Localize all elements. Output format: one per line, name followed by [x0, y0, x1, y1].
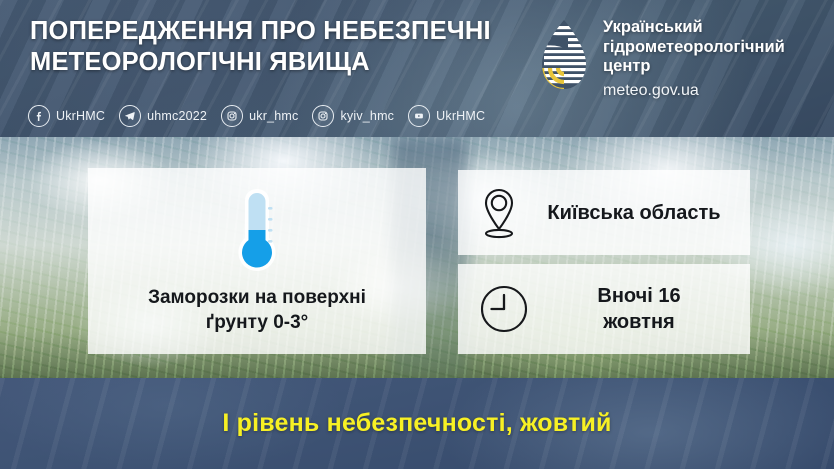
water-drop-logo-icon [538, 18, 590, 92]
clock-icon [478, 283, 530, 335]
website-url[interactable]: meteo.gov.ua [603, 81, 785, 101]
organization-logo-block[interactable]: Український гідрометеорологічний центр m… [538, 18, 785, 100]
warning-text-line-2: ґрунту 0-3° [107, 310, 407, 335]
weather-warning-poster: ПОПЕРЕДЖЕННЯ ПРО НЕБЕЗПЕЧНІ МЕТЕОРОЛОГІЧ… [0, 0, 834, 469]
instagram-icon [221, 105, 243, 127]
social-link-instagram-ukr[interactable]: ukr_hmc [221, 105, 298, 127]
instagram-icon [312, 105, 334, 127]
region-text: Київська область [532, 200, 750, 226]
warning-text: Заморозки на поверхні ґрунту 0-3° [107, 285, 407, 335]
title-line-2: МЕТЕОРОЛОГІЧНІ ЯВИЩА [30, 47, 540, 78]
danger-level-text: І рівень небезпечності, жовтий [0, 378, 834, 469]
social-link-telegram[interactable]: uhmc2022 [119, 105, 207, 127]
youtube-icon [408, 105, 430, 127]
social-label-instagram-kyiv: kyiv_hmc [340, 109, 394, 123]
social-label-facebook: UkrHMC [56, 109, 105, 123]
social-links-row: UkrHMC uhmc2022 ukr_hmc kyiv_hmc [28, 105, 485, 127]
time-text-line-1: Вночі 16 [542, 283, 736, 309]
social-label-youtube: UkrHMC [436, 109, 485, 123]
social-link-youtube[interactable]: UkrHMC [408, 105, 485, 127]
logo-line-3: центр [603, 57, 785, 77]
page-title: ПОПЕРЕДЖЕННЯ ПРО НЕБЕЗПЕЧНІ МЕТЕОРОЛОГІЧ… [30, 16, 540, 78]
header-banner: ПОПЕРЕДЖЕННЯ ПРО НЕБЕЗПЕЧНІ МЕТЕОРОЛОГІЧ… [0, 0, 834, 137]
thermometer-icon [227, 185, 287, 281]
social-link-facebook[interactable]: UkrHMC [28, 105, 105, 127]
time-text: Вночі 16 жовтня [542, 283, 750, 335]
social-link-instagram-kyiv[interactable]: kyiv_hmc [312, 105, 394, 127]
logo-line-1: Український [603, 18, 785, 38]
facebook-icon [28, 105, 50, 127]
social-label-instagram-ukr: ukr_hmc [249, 109, 298, 123]
social-label-telegram: uhmc2022 [147, 109, 207, 123]
time-text-line-2: жовтня [542, 309, 736, 335]
telegram-icon [119, 105, 141, 127]
warning-text-line-1: Заморозки на поверхні [107, 285, 407, 310]
logo-line-2: гідрометеорологічний [603, 38, 785, 58]
organization-name: Український гідрометеорологічний центр m… [603, 18, 785, 100]
map-pin-icon [478, 186, 520, 240]
warning-card: Заморозки на поверхні ґрунту 0-3° [88, 168, 426, 354]
time-card: Вночі 16 жовтня [458, 264, 750, 354]
footer-banner: І рівень небезпечності, жовтий [0, 378, 834, 469]
region-card: Київська область [458, 170, 750, 255]
title-line-1: ПОПЕРЕДЖЕННЯ ПРО НЕБЕЗПЕЧНІ [30, 16, 540, 47]
